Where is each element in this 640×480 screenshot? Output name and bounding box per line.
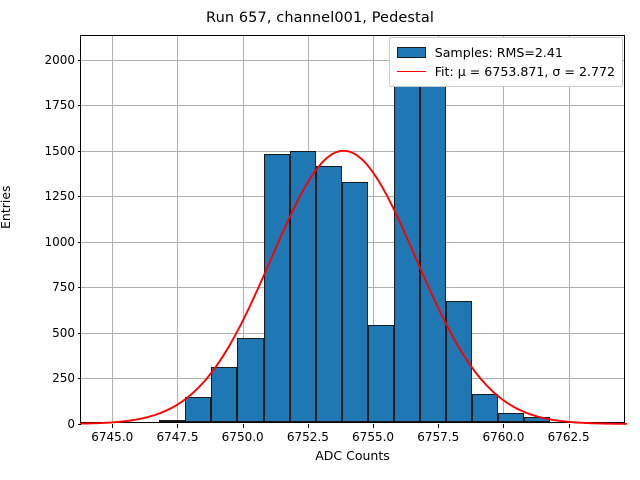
x-tick-label: 6760.0 xyxy=(482,430,524,444)
legend: Samples: RMS=2.41 Fit: μ = 6753.871, σ =… xyxy=(389,37,623,87)
x-tick xyxy=(308,424,309,428)
legend-label-fit: Fit: μ = 6753.871, σ = 2.772 xyxy=(435,64,615,79)
y-tick-label: 750 xyxy=(52,280,75,294)
page-title: Run 657, channel001, Pedestal xyxy=(0,10,640,26)
y-tick-label: 500 xyxy=(52,326,75,340)
x-tick-label: 6750.0 xyxy=(222,430,264,444)
x-tick xyxy=(177,424,178,428)
y-tick xyxy=(78,60,82,61)
y-tick-label: 1250 xyxy=(44,189,75,203)
x-tick xyxy=(373,424,374,428)
x-tick-label: 6752.5 xyxy=(287,430,329,444)
x-tick-label: 6757.5 xyxy=(417,430,459,444)
x-tick-label: 6745.0 xyxy=(91,430,133,444)
x-tick xyxy=(243,424,244,428)
x-axis-label: ADC Counts xyxy=(80,448,625,463)
x-tick-label: 6762.5 xyxy=(548,430,590,444)
legend-item-fit: Fit: μ = 6753.871, σ = 2.772 xyxy=(397,62,615,81)
x-tick-label: 6755.0 xyxy=(352,430,394,444)
x-tick-label: 6747.5 xyxy=(156,430,198,444)
legend-item-samples: Samples: RMS=2.41 xyxy=(397,43,615,62)
x-tick xyxy=(569,424,570,428)
y-tick-label: 2000 xyxy=(44,53,75,67)
y-tick xyxy=(78,333,82,334)
legend-patch-icon xyxy=(397,47,426,58)
y-tick xyxy=(78,424,82,425)
y-tick-label: 1750 xyxy=(44,98,75,112)
plot-axes: 6745.06747.56750.06752.56755.06757.56760… xyxy=(80,35,625,423)
y-tick-label: 250 xyxy=(52,371,75,385)
y-tick xyxy=(78,378,82,379)
matplotlib-figure: Run 657, channel001, Pedestal Entries AD… xyxy=(0,0,640,480)
y-tick xyxy=(78,196,82,197)
y-tick-label: 1500 xyxy=(44,144,75,158)
y-tick xyxy=(78,151,82,152)
y-tick-label: 1000 xyxy=(44,235,75,249)
y-tick-label: 0 xyxy=(67,417,75,431)
x-tick xyxy=(503,424,504,428)
y-tick xyxy=(78,287,82,288)
x-tick xyxy=(438,424,439,428)
x-tick xyxy=(112,424,113,428)
y-tick xyxy=(78,105,82,106)
legend-label-samples: Samples: RMS=2.41 xyxy=(435,45,563,60)
gaussian-fit-curve xyxy=(81,36,624,422)
legend-line-icon xyxy=(397,71,426,72)
y-tick xyxy=(78,242,82,243)
y-axis-label: Entries xyxy=(0,185,13,229)
